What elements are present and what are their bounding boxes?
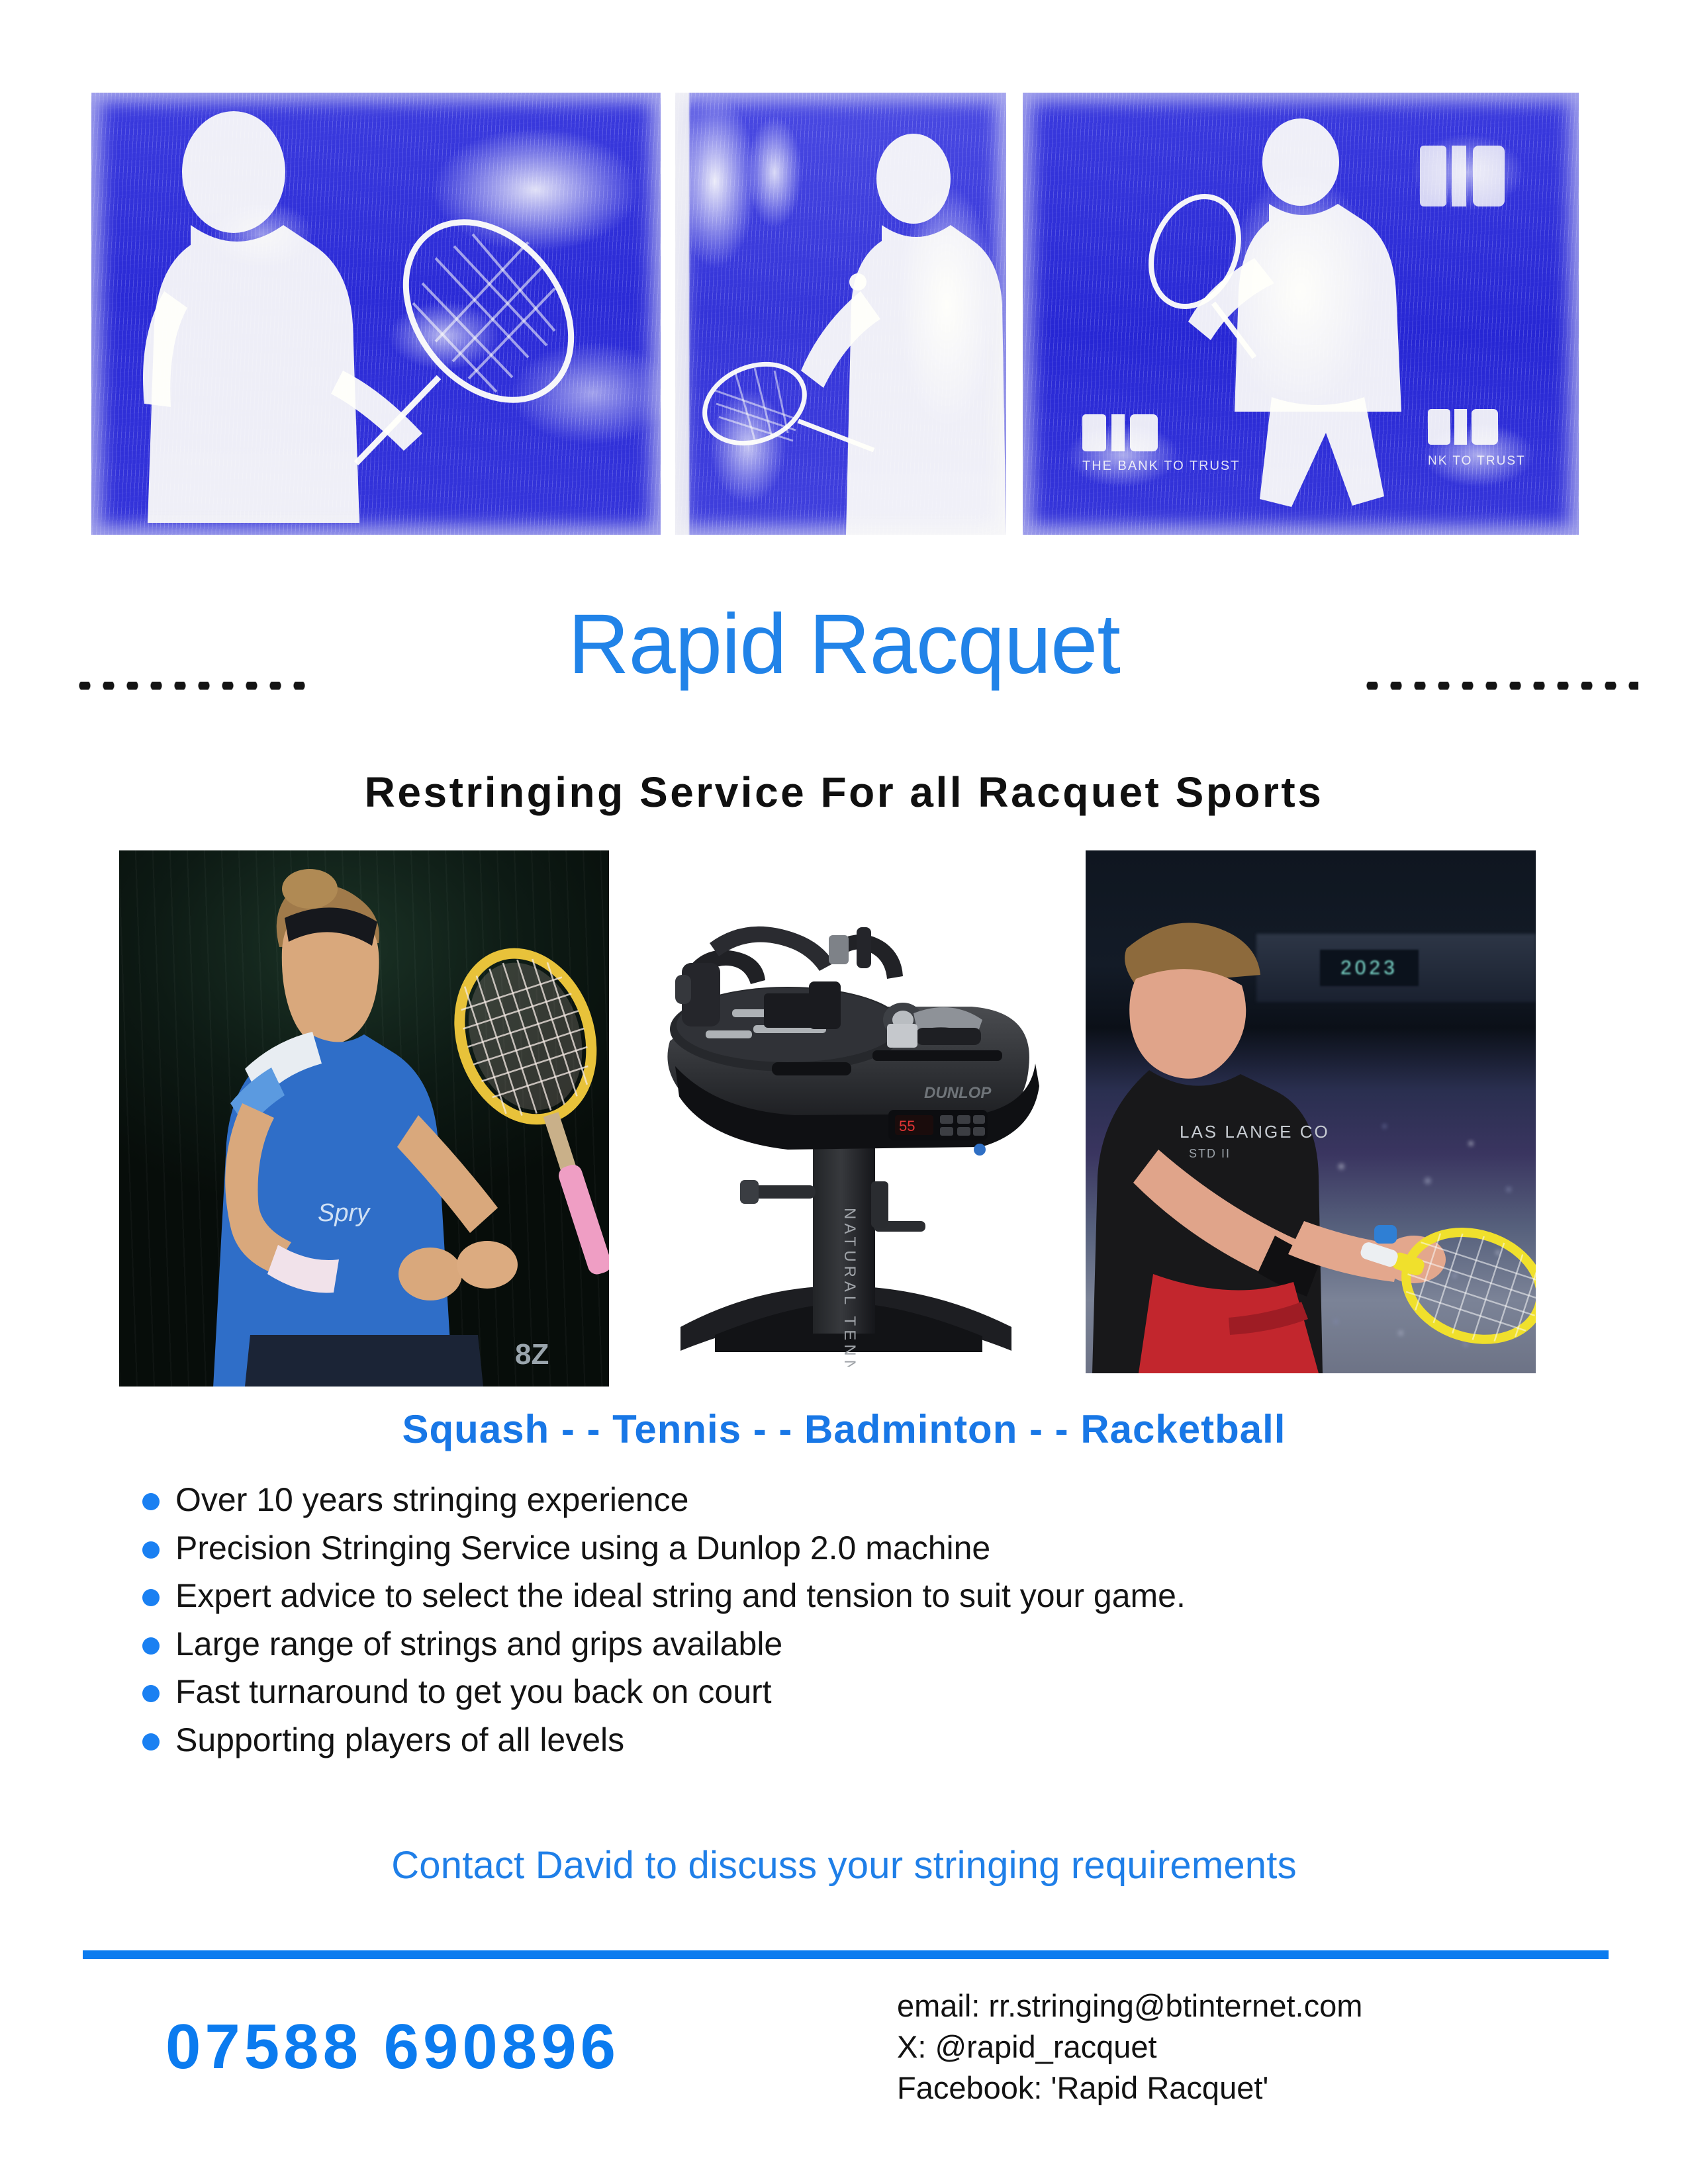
svg-text:8Z: 8Z [515, 1338, 549, 1371]
sports-list: Squash - - Tennis - - Badminton - - Rack… [0, 1406, 1688, 1452]
photo-stringing-machine: NATURAL TENNIS [635, 864, 1059, 1367]
list-item-label: Expert advice to select the ideal string… [175, 1578, 1186, 1614]
contact-details: email: rr.stringing@btinternet.com X: @r… [897, 1985, 1362, 2109]
list-item: Large range of strings and grips availab… [142, 1627, 1532, 1662]
svg-text:NATURAL TENNIS: NATURAL TENNIS [841, 1208, 859, 1367]
bullet-dot-icon [142, 1541, 160, 1559]
bullet-dot-icon [142, 1685, 160, 1702]
svg-text:55: 55 [899, 1118, 915, 1134]
brand-header: Rapid Racquet [0, 615, 1688, 721]
top-photo-squash-female: THE BANK TO TRUST NK TO TRUST [1023, 93, 1579, 535]
top-photo-badminton-female [675, 93, 1006, 535]
svg-text:Spry: Spry [318, 1199, 371, 1227]
photo-male-squash-player: 2023 [1086, 850, 1536, 1373]
email-line[interactable]: email: rr.stringing@btinternet.com [897, 1985, 1362, 2026]
list-item-label: Precision Stringing Service using a Dunl… [175, 1531, 990, 1566]
list-item: Expert advice to select the ideal string… [142, 1578, 1532, 1614]
list-item: Over 10 years stringing experience [142, 1482, 1532, 1518]
svg-text:LAS LANGE CO: LAS LANGE CO [1180, 1122, 1330, 1142]
player-figure: LAS LANGE CO STD II [1086, 850, 1536, 1373]
footer: 07588 690896 email: rr.stringing@btinter… [0, 1979, 1688, 2164]
list-item: Precision Stringing Service using a Dunl… [142, 1531, 1532, 1566]
svg-text:STD II: STD II [1189, 1147, 1231, 1160]
mid-photo-gallery: Spry 8Z NATURAL TENNIS [0, 850, 1688, 1393]
photo-female-squash-player: Spry 8Z [119, 850, 609, 1387]
bullet-dot-icon [142, 1493, 160, 1510]
list-item-label: Over 10 years stringing experience [175, 1482, 688, 1518]
list-item-label: Supporting players of all levels [175, 1723, 624, 1758]
list-item: Supporting players of all levels [142, 1723, 1532, 1758]
photo-soft-edge [1023, 93, 1579, 535]
list-item: Fast turnaround to get you back on court [142, 1674, 1532, 1709]
contact-call-to-action: Contact David to discuss your stringing … [0, 1843, 1688, 1888]
x-handle-line[interactable]: X: @rapid_racquet [897, 2026, 1362, 2068]
footer-divider [83, 1950, 1609, 1959]
list-item-label: Fast turnaround to get you back on court [175, 1674, 772, 1709]
photo-soft-edge [675, 93, 1006, 535]
brand-tagline: Restringing Service For all Racquet Spor… [0, 768, 1688, 817]
facebook-line[interactable]: Facebook: 'Rapid Racquet' [897, 2068, 1362, 2109]
bullet-dot-icon [142, 1637, 160, 1655]
dunlop-stringing-machine: NATURAL TENNIS [635, 864, 1059, 1367]
brand-title: Rapid Racquet [0, 602, 1688, 687]
player-figure: Spry 8Z [119, 850, 609, 1387]
feature-bullet-list: Over 10 years stringing experience Preci… [142, 1482, 1532, 1770]
top-photo-squash-male [91, 93, 661, 535]
phone-number[interactable]: 07588 690896 [165, 2011, 620, 2083]
top-photo-strip: THE BANK TO TRUST NK TO TRUST [0, 0, 1688, 549]
bullet-dot-icon [142, 1733, 160, 1751]
list-item-label: Large range of strings and grips availab… [175, 1627, 782, 1662]
photo-soft-edge [91, 93, 661, 535]
bullet-dot-icon [142, 1589, 160, 1606]
svg-text:DUNLOP: DUNLOP [924, 1084, 992, 1102]
